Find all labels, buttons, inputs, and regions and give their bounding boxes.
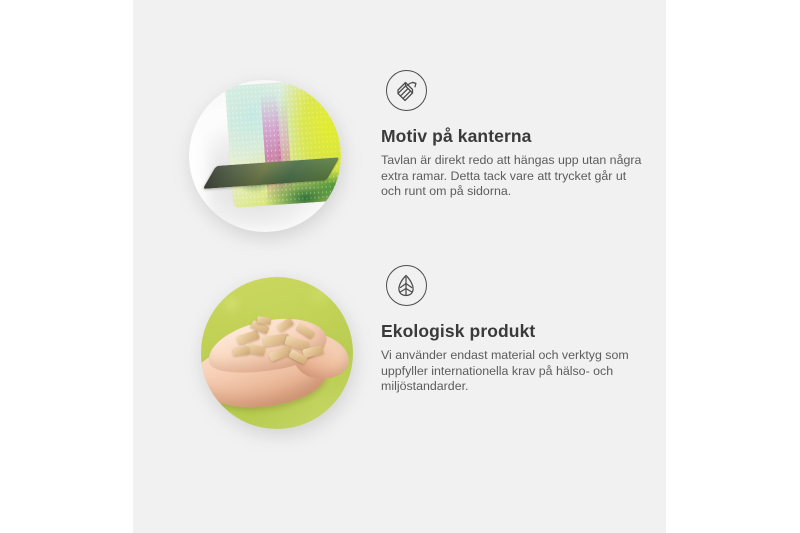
- feature-block-eco: Ekologisk produkt Vi använder endast mat…: [133, 265, 666, 460]
- canvas-print-face: [225, 80, 341, 208]
- feature-text-edges: Motiv på kanterna Tavlan är direkt redo …: [381, 70, 657, 200]
- feature-block-edges: Motiv på kanterna Tavlan är direkt redo …: [133, 70, 666, 265]
- leaf-icon: [386, 265, 427, 306]
- wood-chips-pile: [233, 317, 327, 369]
- feature-text-eco: Ekologisk produkt Vi använder endast mat…: [381, 265, 657, 395]
- hands-wood-chips-photo: [201, 277, 353, 429]
- feature-body-edges: Tavlan är direkt redo att hängas upp uta…: [381, 153, 649, 200]
- feature-body-eco: Vi använder endast material och verktyg …: [381, 348, 649, 395]
- canvas-corner-photo: [189, 80, 341, 232]
- hands-wood-chips-photo-image: [201, 277, 353, 429]
- canvas-wrap-edge-icon: [386, 70, 427, 111]
- feature-title-edges: Motiv på kanterna: [381, 126, 657, 146]
- product-feature-banner: Motiv på kanterna Tavlan är direkt redo …: [0, 0, 800, 533]
- canvas-corner-photo-image: [189, 80, 341, 232]
- feature-title-eco: Ekologisk produkt: [381, 321, 657, 341]
- content-panel: Motiv på kanterna Tavlan är direkt redo …: [133, 0, 666, 533]
